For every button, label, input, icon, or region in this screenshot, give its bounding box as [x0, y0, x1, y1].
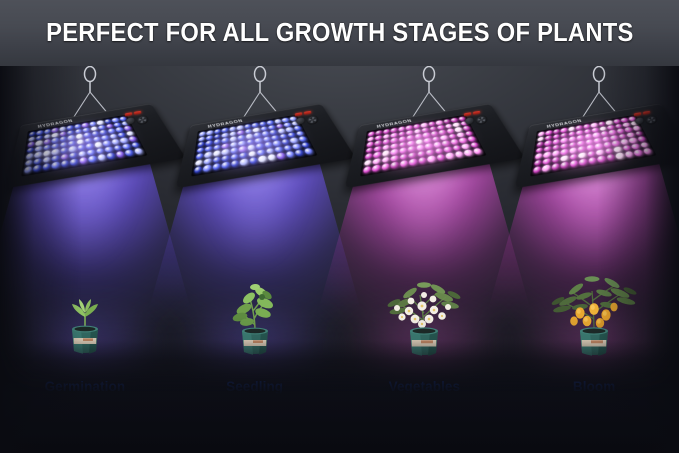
led-grow-light-panel: HYDRAGON: [21, 104, 161, 187]
power-port: [465, 117, 474, 125]
led-dot: [399, 136, 406, 142]
led-dot: [106, 153, 116, 160]
led-grow-light-panel: HYDRAGON: [530, 104, 670, 187]
led-dot: [533, 166, 542, 174]
led-dot: [588, 157, 597, 164]
led-dot: [60, 147, 68, 153]
led-dot: [213, 144, 220, 150]
led-dot: [237, 135, 244, 141]
led-dot: [409, 152, 417, 159]
led-dot: [230, 147, 238, 153]
led-dot: [78, 151, 87, 158]
led-dot: [579, 159, 588, 166]
led-dot: [391, 149, 399, 156]
stage-time: Time: 18H ON / 6H OFF: [340, 439, 510, 449]
led-dot: [24, 166, 33, 174]
led-dot: [52, 149, 60, 156]
page-title: PERFECT FOR ALL GROWTH STAGES OF PLANTS: [46, 19, 633, 48]
led-dot: [249, 157, 258, 164]
led-dot: [400, 160, 408, 167]
led-dot: [204, 152, 212, 159]
led-dot: [52, 162, 60, 169]
led-dot: [264, 142, 273, 148]
led-dot: [459, 138, 469, 144]
led-dot: [70, 159, 79, 166]
led-dot: [61, 160, 69, 167]
led-dot: [194, 166, 203, 174]
stage-mode: VEG ON+BLOOM OFF: [170, 420, 340, 430]
led-dot: [570, 147, 578, 153]
led-dot: [60, 136, 67, 142]
led-dot: [27, 141, 34, 147]
led-dot: [391, 138, 398, 144]
led-dot: [537, 141, 544, 147]
header-band: PERFECT FOR ALL GROWTH STAGES OF PLANTS: [0, 0, 679, 66]
led-dot: [25, 159, 33, 166]
led-dot: [213, 156, 221, 163]
power-port: [126, 117, 135, 125]
led-dot: [585, 134, 593, 140]
led-dot: [400, 154, 408, 161]
led-dot: [425, 143, 434, 149]
led-dot: [561, 149, 569, 156]
veg-switch[interactable]: [295, 112, 302, 116]
panel-controls[interactable]: [463, 108, 493, 137]
cooling-fan-icon: [136, 115, 149, 126]
led-dot: [52, 128, 59, 133]
led-grow-light-panel: HYDRAGON: [360, 104, 500, 187]
led-dot: [383, 139, 390, 145]
led-dot: [595, 143, 604, 149]
led-dot: [569, 142, 576, 148]
stage-time: Time: 10H ON / 14H OFF: [0, 439, 170, 449]
led-dot: [261, 131, 269, 137]
stage-column-germination: HYDRAGON: [0, 66, 170, 453]
stage-info-bloom: Bloom Distance: 13.8″-15.8″ VEG ON+BLOOM…: [509, 379, 679, 449]
led-dot: [26, 153, 34, 160]
led-dot: [399, 142, 406, 148]
veg-switch[interactable]: [125, 112, 132, 116]
led-dot: [542, 165, 550, 173]
stage-title: Bloom: [509, 379, 679, 394]
led-dot: [102, 140, 111, 146]
led-dot: [59, 126, 66, 131]
led-dot: [473, 148, 484, 155]
stage-time: Time: 12H ON / 12H OFF: [170, 439, 340, 449]
led-dot: [68, 135, 75, 141]
panel-controls[interactable]: [294, 108, 324, 137]
led-dot: [222, 149, 230, 156]
power-port: [296, 117, 305, 125]
led-dot: [83, 132, 91, 138]
led-dot: [382, 156, 390, 163]
led-dot: [272, 140, 281, 146]
led-dot: [89, 121, 97, 126]
veg-switch[interactable]: [464, 112, 471, 116]
led-dot: [267, 154, 277, 161]
led-dot: [52, 155, 60, 162]
led-dot: [552, 163, 560, 170]
led-dot: [536, 147, 544, 153]
led-dot: [97, 154, 107, 161]
led-dot: [399, 126, 406, 131]
led-dot: [363, 166, 372, 174]
cooling-fan-icon: [306, 115, 319, 126]
plant-flowering: [364, 251, 484, 361]
led-dot: [373, 158, 381, 165]
led-dot: [552, 156, 560, 163]
stage-column-bloom: HYDRAGON: [509, 66, 679, 453]
led-dot: [416, 139, 424, 145]
stage-mode: VEG ON+BLOOM ON: [340, 420, 510, 430]
led-dot: [111, 139, 120, 145]
stage-mode: VEG ON+BLOOM ON: [509, 420, 679, 430]
led-dot: [115, 151, 125, 158]
led-dot: [107, 128, 116, 134]
led-dot: [79, 157, 88, 164]
led-dot: [545, 140, 552, 146]
led-dot: [414, 124, 421, 129]
led-dot: [231, 160, 239, 167]
led-dot: [69, 146, 77, 152]
stage-distance: Distance: 13.8″-15.8″: [0, 401, 170, 411]
led-dot: [61, 154, 69, 161]
led-dot: [34, 152, 42, 159]
led-dot: [603, 142, 612, 148]
led-dot: [373, 165, 381, 173]
led-dot: [375, 146, 383, 152]
led-dot: [364, 159, 372, 166]
led-dot: [276, 153, 286, 160]
led-dot: [417, 145, 425, 151]
led-dot: [204, 158, 212, 165]
led-grow-light-panel: HYDRAGON: [190, 104, 330, 187]
led-dot: [391, 155, 399, 162]
led-dot: [467, 136, 477, 142]
led-dot: [615, 153, 625, 160]
led-dot: [606, 154, 616, 161]
led-dot: [94, 142, 103, 148]
bloom-switch[interactable]: [304, 111, 311, 115]
stage-title: Germination: [0, 379, 170, 394]
led-dot: [633, 150, 643, 157]
led-dot: [238, 146, 246, 152]
led-dot: [205, 140, 212, 146]
led-dot: [391, 143, 398, 149]
led-dot: [255, 143, 264, 149]
bloom-switch[interactable]: [643, 111, 650, 115]
stage-info-germination: Germination Distance: 13.8″-15.8″ VEG ON…: [0, 379, 170, 449]
led-dot: [544, 146, 552, 152]
stage-distance: Distance: 13.8″-15.8″: [509, 401, 679, 411]
led-dot: [586, 145, 594, 151]
stage-title: Seedling: [170, 379, 340, 394]
led-dot: [407, 135, 414, 141]
led-dot: [213, 139, 220, 145]
led-dot: [124, 150, 134, 157]
led-dot: [642, 148, 653, 155]
infographic-stage: PERFECT FOR ALL GROWTH STAGES OF PLANTS: [0, 0, 679, 453]
led-dot: [27, 147, 35, 153]
led-dot: [561, 155, 569, 162]
led-dot: [44, 139, 51, 145]
led-dot: [593, 132, 601, 138]
led-dot: [294, 150, 304, 157]
led-dot: [587, 151, 596, 158]
led-dot: [408, 146, 416, 152]
led-dot: [568, 126, 575, 131]
cooling-fan-icon: [645, 115, 658, 126]
led-dot: [418, 157, 427, 164]
led-dot: [86, 143, 95, 149]
led-dot: [544, 152, 552, 159]
led-dot: [421, 123, 428, 128]
led-dot: [43, 163, 51, 170]
led-dot: [195, 159, 203, 166]
led-dot: [423, 132, 431, 138]
led-dot: [222, 138, 229, 144]
led-dot: [197, 141, 204, 147]
led-dot: [418, 151, 427, 158]
led-dot: [230, 154, 238, 161]
led-dot: [553, 144, 560, 150]
led-dot: [561, 138, 568, 144]
led-dot: [601, 131, 609, 137]
led-dot: [577, 135, 584, 141]
led-dot: [586, 139, 594, 145]
stage-title: Vegetables: [340, 379, 510, 394]
led-dot: [203, 165, 211, 173]
led-dot: [382, 163, 390, 170]
led-dot: [34, 158, 42, 165]
led-dot: [33, 165, 41, 173]
panel-controls[interactable]: [124, 108, 154, 137]
led-dot: [576, 125, 583, 130]
led-dot: [535, 153, 543, 160]
led-dot: [43, 156, 51, 163]
led-dot: [570, 154, 578, 161]
led-dot: [578, 146, 586, 152]
bloom-switch[interactable]: [134, 111, 141, 115]
stage-columns: HYDRAGON: [0, 66, 679, 453]
led-dot: [365, 153, 373, 160]
led-dot: [285, 151, 295, 158]
led-dot: [406, 125, 413, 130]
led-dot: [91, 131, 99, 137]
led-dot: [400, 147, 408, 153]
led-dot: [52, 138, 59, 144]
stage-info-seedling: Seedling Distance: 15.8″-17.7″ VEG ON+BL…: [170, 379, 340, 449]
led-dot: [297, 136, 307, 142]
stage-column-seedling: HYDRAGON: [170, 66, 340, 453]
led-dot: [77, 145, 85, 151]
led-dot: [212, 163, 220, 170]
stage-info-vegetables: Vegetables Distance: 15.8″-17.7″ VEG ON+…: [340, 379, 510, 449]
led-dot: [543, 158, 551, 165]
led-dot: [128, 136, 138, 142]
led-dot: [74, 124, 81, 129]
led-dot: [569, 136, 576, 142]
led-dot: [374, 152, 382, 159]
plant-leafy: [195, 251, 315, 361]
led-dot: [75, 134, 83, 140]
led-dot: [583, 124, 590, 129]
led-dot: [446, 153, 456, 160]
led-dot: [258, 156, 267, 163]
led-dot: [561, 162, 569, 169]
led-dot: [133, 148, 144, 155]
led-dot: [561, 143, 568, 149]
led-dot: [612, 140, 621, 146]
led-dot: [277, 128, 286, 134]
led-dot: [570, 160, 578, 167]
led-dot: [409, 159, 418, 166]
stage-time: Time: 12H ON / 12H OFF: [509, 439, 679, 449]
stage-distance: Distance: 15.8″-17.7″: [170, 401, 340, 411]
led-dot: [240, 159, 249, 166]
led-dot: [391, 128, 398, 133]
veg-switch[interactable]: [634, 112, 641, 116]
led-dot: [553, 139, 560, 145]
led-dot: [391, 162, 399, 169]
led-dot: [464, 150, 474, 157]
panel-controls[interactable]: [633, 108, 663, 137]
led-dot: [244, 124, 251, 129]
led-dot: [245, 134, 253, 140]
led-dot: [213, 150, 221, 157]
led-dot: [229, 126, 236, 131]
led-dot: [383, 144, 390, 150]
plant-fruiting: [534, 251, 654, 361]
led-dot: [597, 156, 606, 163]
led-dot: [229, 136, 236, 142]
led-dot: [552, 150, 560, 157]
led-dot: [442, 140, 451, 146]
led-dot: [439, 130, 447, 136]
led-dot: [534, 159, 542, 166]
led-dot: [88, 156, 97, 163]
plant-sprout: [25, 251, 145, 361]
power-port: [635, 117, 644, 125]
led-dot: [36, 140, 43, 146]
led-dot: [259, 121, 267, 126]
led-dot: [598, 121, 606, 126]
led-dot: [561, 128, 568, 133]
led-dot: [281, 139, 290, 145]
led-dot: [247, 145, 255, 151]
led-dot: [43, 144, 50, 150]
led-dot: [415, 134, 423, 140]
led-dot: [637, 136, 647, 142]
led-dot: [367, 141, 374, 147]
cooling-fan-icon: [476, 115, 489, 126]
led-dot: [196, 147, 204, 153]
led-dot: [383, 150, 391, 157]
led-dot: [60, 142, 67, 148]
stage-column-vegetables: HYDRAGON: [340, 66, 510, 453]
led-dot: [43, 150, 51, 157]
led-dot: [196, 153, 204, 160]
led-dot: [222, 162, 230, 169]
bloom-switch[interactable]: [473, 111, 480, 115]
led-dot: [35, 146, 43, 152]
stage-mode: VEG ON+BLOOM OFF: [0, 420, 170, 430]
led-dot: [375, 140, 382, 146]
stage-distance: Distance: 15.8″-17.7″: [340, 401, 510, 411]
led-dot: [428, 156, 437, 163]
led-dot: [303, 148, 314, 155]
